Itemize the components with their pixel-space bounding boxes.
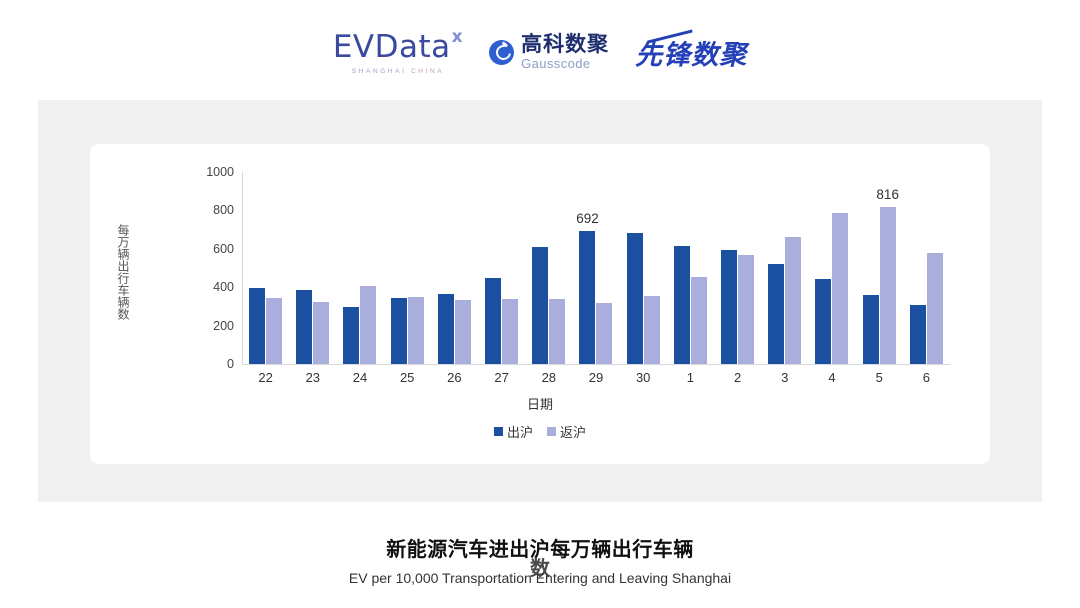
x-axis-line bbox=[242, 364, 950, 365]
x-axis-label: 日期 bbox=[90, 394, 990, 413]
bar bbox=[880, 207, 896, 364]
bar-value-label: 816 bbox=[876, 187, 899, 202]
bar-group bbox=[289, 172, 336, 364]
y-tick-label: 600 bbox=[188, 242, 234, 256]
bar-group bbox=[667, 172, 714, 364]
bar-group bbox=[620, 172, 667, 364]
evdata-logo: EV Data x SHANGHAI CHINA bbox=[333, 29, 463, 75]
evdata-logo-x-icon: x bbox=[452, 27, 463, 47]
y-axis-label: 每万辆出行车辆数 bbox=[114, 192, 132, 352]
gausscode-logo-icon bbox=[489, 40, 514, 65]
bar bbox=[691, 277, 707, 364]
logo-bar: EV Data x SHANGHAI CHINA 高科数聚 Gausscode … bbox=[0, 22, 1080, 82]
legend-item[interactable]: 出沪 bbox=[494, 422, 533, 441]
legend-label: 出沪 bbox=[507, 422, 533, 441]
bar bbox=[927, 253, 943, 364]
x-tick-label: 30 bbox=[636, 370, 650, 385]
bar bbox=[738, 255, 754, 364]
bar bbox=[596, 303, 612, 364]
x-tick-label: 4 bbox=[828, 370, 835, 385]
bar bbox=[485, 278, 501, 364]
evdata-logo-sub-left: SHANGHAI bbox=[352, 68, 411, 75]
legend-swatch-icon bbox=[547, 427, 556, 436]
legend-item[interactable]: 返沪 bbox=[547, 422, 586, 441]
x-tick-label: 6 bbox=[923, 370, 930, 385]
caption-chinese: 新能源汽车进出沪每万辆出行车辆 bbox=[0, 533, 1080, 562]
x-tick-label: 3 bbox=[781, 370, 788, 385]
plot-area bbox=[242, 172, 950, 364]
bar-group bbox=[525, 172, 572, 364]
evdata-logo-sub-right: CHINA bbox=[411, 68, 444, 75]
gausscode-logo-text: 高科数聚 Gausscode bbox=[521, 34, 609, 70]
xianfeng-logo: 先锋数聚 bbox=[635, 33, 747, 72]
y-tick-label: 0 bbox=[188, 357, 234, 371]
bar-chart: 每万辆出行车辆数 02004006008001000 2223242526272… bbox=[90, 144, 990, 464]
x-tick-label: 27 bbox=[494, 370, 508, 385]
bar bbox=[438, 294, 454, 364]
chart-panel: 每万辆出行车辆数 02004006008001000 2223242526272… bbox=[38, 100, 1042, 502]
evdata-logo-subtitle: SHANGHAI CHINA bbox=[352, 68, 444, 75]
bar bbox=[360, 286, 376, 364]
bar bbox=[863, 295, 879, 365]
xianfeng-logo-cn: 先锋数聚 bbox=[635, 40, 747, 71]
gausscode-logo-cn: 高科数聚 bbox=[521, 34, 609, 55]
y-tick-label: 800 bbox=[188, 203, 234, 217]
bar bbox=[785, 237, 801, 364]
bar bbox=[296, 290, 312, 364]
legend-swatch-icon bbox=[494, 427, 503, 436]
bar-group bbox=[478, 172, 525, 364]
chart-card: 每万辆出行车辆数 02004006008001000 2223242526272… bbox=[90, 144, 990, 464]
bar bbox=[579, 231, 595, 364]
bar bbox=[502, 299, 518, 364]
bar bbox=[910, 305, 926, 364]
x-tick-label: 29 bbox=[589, 370, 603, 385]
bar bbox=[408, 297, 424, 364]
evdata-logo-ev: EV bbox=[333, 29, 375, 65]
x-tick-label: 24 bbox=[353, 370, 367, 385]
bar bbox=[549, 299, 565, 364]
bar bbox=[391, 298, 407, 364]
bar-group bbox=[808, 172, 855, 364]
x-tick-label: 1 bbox=[687, 370, 694, 385]
gausscode-logo-en: Gausscode bbox=[521, 57, 609, 70]
bar-group bbox=[384, 172, 431, 364]
chart-legend: 出沪返沪 bbox=[90, 422, 990, 441]
bar-group bbox=[761, 172, 808, 364]
gausscode-logo: 高科数聚 Gausscode bbox=[489, 34, 609, 70]
bar bbox=[768, 264, 784, 364]
y-axis-ticks: 02004006008001000 bbox=[188, 144, 234, 464]
bar-group bbox=[572, 172, 619, 364]
bar bbox=[455, 300, 471, 364]
y-tick-label: 200 bbox=[188, 319, 234, 333]
bar-group bbox=[431, 172, 478, 364]
bar bbox=[343, 307, 359, 364]
bar bbox=[721, 250, 737, 364]
x-tick-label: 25 bbox=[400, 370, 414, 385]
bar-group bbox=[242, 172, 289, 364]
y-tick-label: 400 bbox=[188, 280, 234, 294]
x-tick-label: 23 bbox=[306, 370, 320, 385]
bar bbox=[266, 298, 282, 364]
y-tick-label: 1000 bbox=[188, 165, 234, 179]
x-tick-label: 2 bbox=[734, 370, 741, 385]
x-tick-label: 26 bbox=[447, 370, 461, 385]
bar bbox=[313, 302, 329, 364]
bar bbox=[644, 296, 660, 364]
bar bbox=[532, 247, 548, 364]
bar bbox=[815, 279, 831, 364]
bar-group bbox=[336, 172, 383, 364]
bar-value-label: 692 bbox=[576, 211, 599, 226]
caption-english: EV per 10,000 Transportation Entering an… bbox=[0, 570, 1080, 586]
bar bbox=[832, 213, 848, 364]
bar bbox=[627, 233, 643, 364]
x-tick-label: 5 bbox=[876, 370, 883, 385]
bar-group bbox=[903, 172, 950, 364]
legend-label: 返沪 bbox=[560, 422, 586, 441]
x-tick-label: 28 bbox=[542, 370, 556, 385]
bar-group bbox=[714, 172, 761, 364]
x-tick-label: 22 bbox=[258, 370, 272, 385]
evdata-logo-wordmark: EV Data x bbox=[333, 29, 463, 65]
bar bbox=[674, 246, 690, 364]
evdata-logo-data: Data bbox=[375, 29, 451, 65]
bar bbox=[249, 288, 265, 364]
